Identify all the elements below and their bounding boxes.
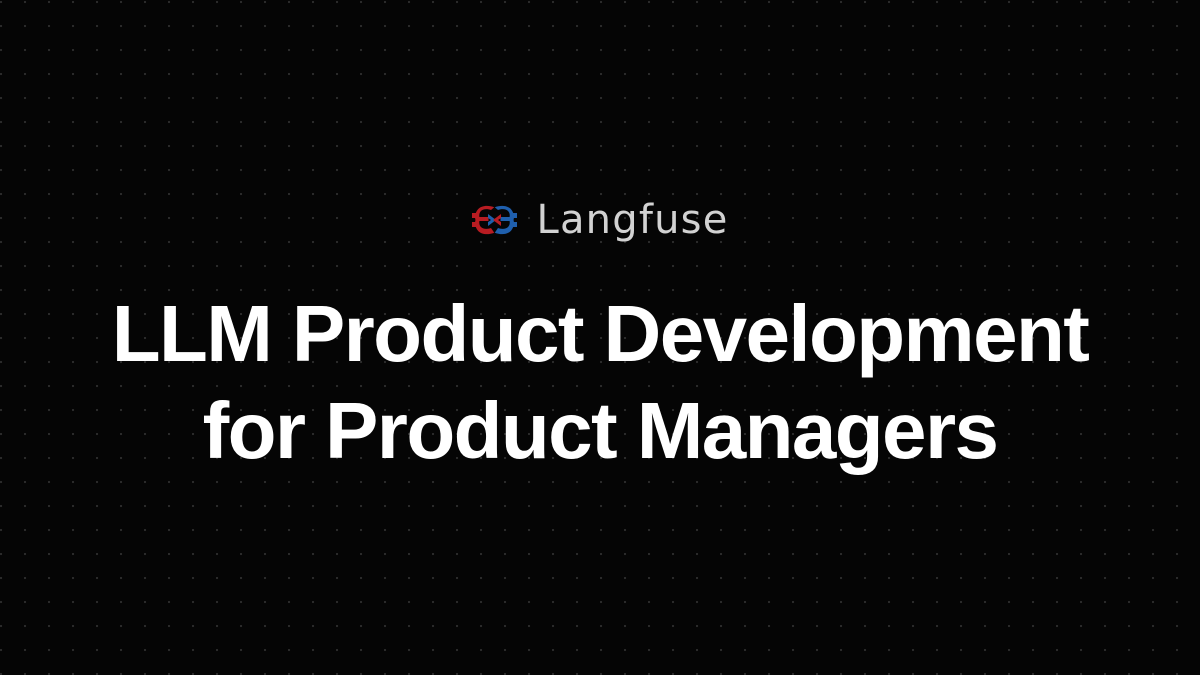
page-title: LLM Product Development for Product Mana… <box>112 285 1089 479</box>
title-slide: Langfuse LLM Product Development for Pro… <box>0 0 1200 675</box>
langfuse-logo-mark <box>471 204 518 236</box>
slide-content: Langfuse LLM Product Development for Pro… <box>0 0 1200 675</box>
page-title-line-1: LLM Product Development <box>112 285 1089 382</box>
page-title-line-2: for Product Managers <box>112 382 1089 479</box>
brand-lockup: Langfuse <box>471 197 728 243</box>
brand-wordmark: Langfuse <box>536 200 728 240</box>
